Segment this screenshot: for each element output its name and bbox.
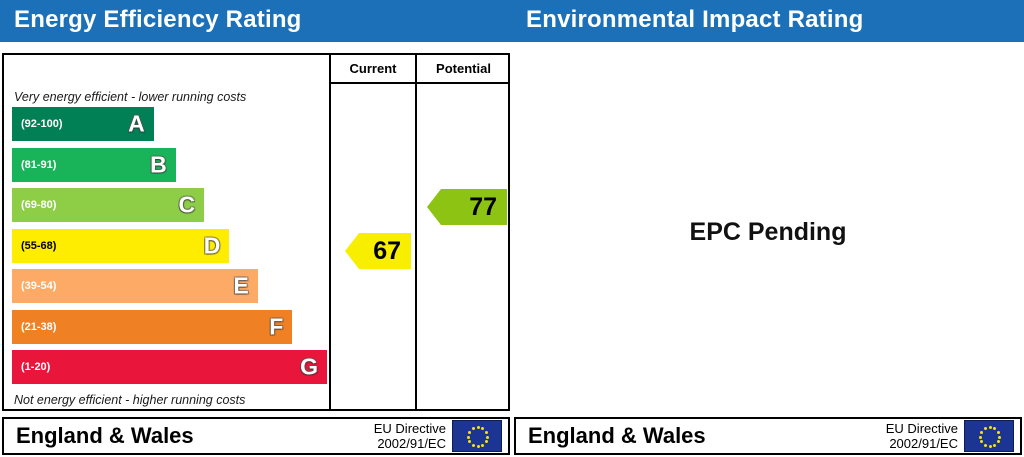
eu-star-icon	[481, 444, 484, 447]
eu-star-icon	[486, 436, 489, 439]
rating-band-b: (81-91)B	[12, 148, 176, 182]
eu-star-icon	[481, 427, 484, 430]
eu-star-icon	[989, 426, 992, 429]
chart-caption-top: Very energy efficient - lower running co…	[14, 90, 246, 104]
footer-directive-line1: EU Directive	[886, 421, 958, 436]
column-header-divider	[329, 82, 508, 84]
band-range-g: (1-20)	[21, 361, 50, 373]
environmental-impact-title: Environmental Impact Rating	[526, 6, 863, 34]
band-letter-d: D	[204, 234, 221, 257]
environmental-impact-panel: EPC Pending	[514, 53, 1022, 411]
footer-directive-line1: EU Directive	[374, 421, 446, 436]
footer-directive-line2: 2002/91/EC	[886, 436, 958, 451]
band-range-c: (69-80)	[21, 199, 56, 211]
eu-star-icon	[993, 427, 996, 430]
band-range-a: (92-100)	[21, 118, 63, 130]
eu-star-icon	[477, 426, 480, 429]
rating-band-g: (1-20)G	[12, 350, 327, 384]
eu-star-icon	[984, 444, 987, 447]
current-rating-arrow: 67	[345, 233, 411, 269]
epc-pending-message: EPC Pending	[690, 218, 847, 247]
footer-region-label: England & Wales	[528, 423, 706, 449]
rating-band-f: (21-38)F	[12, 310, 292, 344]
eu-star-icon	[989, 445, 992, 448]
eu-star-icon	[467, 436, 470, 439]
eu-star-icon	[979, 436, 982, 439]
eu-flag-icon	[452, 420, 502, 452]
potential-rating-arrow: 77	[427, 189, 507, 225]
band-range-d: (55-68)	[21, 240, 56, 252]
band-letter-b: B	[150, 153, 167, 176]
energy-efficiency-title: Energy Efficiency Rating	[14, 6, 302, 34]
footer-directive-line2: 2002/91/EC	[374, 436, 446, 451]
potential-rating-value: 77	[469, 193, 497, 222]
rating-bands: (92-100)A(81-91)B(69-80)C(55-68)D(39-54)…	[12, 107, 327, 389]
environmental-impact-header: Environmental Impact Rating	[512, 0, 1024, 42]
column-divider-current	[329, 55, 331, 409]
eu-star-icon	[997, 440, 1000, 443]
band-letter-e: E	[233, 275, 248, 298]
chart-caption-bottom: Not energy efficient - higher running co…	[14, 393, 245, 407]
eu-star-icon	[998, 436, 1001, 439]
band-range-e: (39-54)	[21, 280, 56, 292]
eu-star-icon	[993, 444, 996, 447]
eu-star-icon	[997, 431, 1000, 434]
eu-star-icon	[472, 427, 475, 430]
column-header-current: Current	[331, 59, 415, 79]
eu-star-icon	[485, 431, 488, 434]
eu-star-icon	[980, 431, 983, 434]
energy-efficiency-header: Energy Efficiency Rating	[0, 0, 512, 42]
column-header-potential: Potential	[417, 59, 510, 79]
eu-flag-icon	[964, 420, 1014, 452]
band-range-b: (81-91)	[21, 159, 56, 171]
eu-star-icon	[468, 440, 471, 443]
rating-band-a: (92-100)A	[12, 107, 154, 141]
footer-directive: EU Directive 2002/91/EC	[886, 421, 958, 451]
current-rating-value: 67	[373, 237, 401, 266]
band-letter-g: G	[300, 356, 318, 379]
footer-directive: EU Directive 2002/91/EC	[374, 421, 446, 451]
footer-right: England & Wales EU Directive 2002/91/EC	[514, 417, 1022, 455]
rating-band-e: (39-54)E	[12, 269, 258, 303]
eu-star-icon	[468, 431, 471, 434]
rating-band-c: (69-80)C	[12, 188, 204, 222]
band-letter-a: A	[128, 113, 145, 136]
eu-star-icon	[477, 445, 480, 448]
band-letter-c: C	[179, 194, 196, 217]
energy-efficiency-chart: Very energy efficient - lower running co…	[2, 53, 510, 411]
eu-star-icon	[485, 440, 488, 443]
band-range-f: (21-38)	[21, 321, 56, 333]
eu-star-icon	[980, 440, 983, 443]
eu-star-icon	[984, 427, 987, 430]
rating-band-d: (55-68)D	[12, 229, 229, 263]
footer-left: England & Wales EU Directive 2002/91/EC	[2, 417, 510, 455]
epc-certificate: Energy Efficiency Rating Environmental I…	[0, 0, 1024, 457]
band-letter-f: F	[269, 315, 283, 338]
eu-star-icon	[472, 444, 475, 447]
footer-region-label: England & Wales	[16, 423, 194, 449]
column-divider-potential	[415, 55, 417, 409]
